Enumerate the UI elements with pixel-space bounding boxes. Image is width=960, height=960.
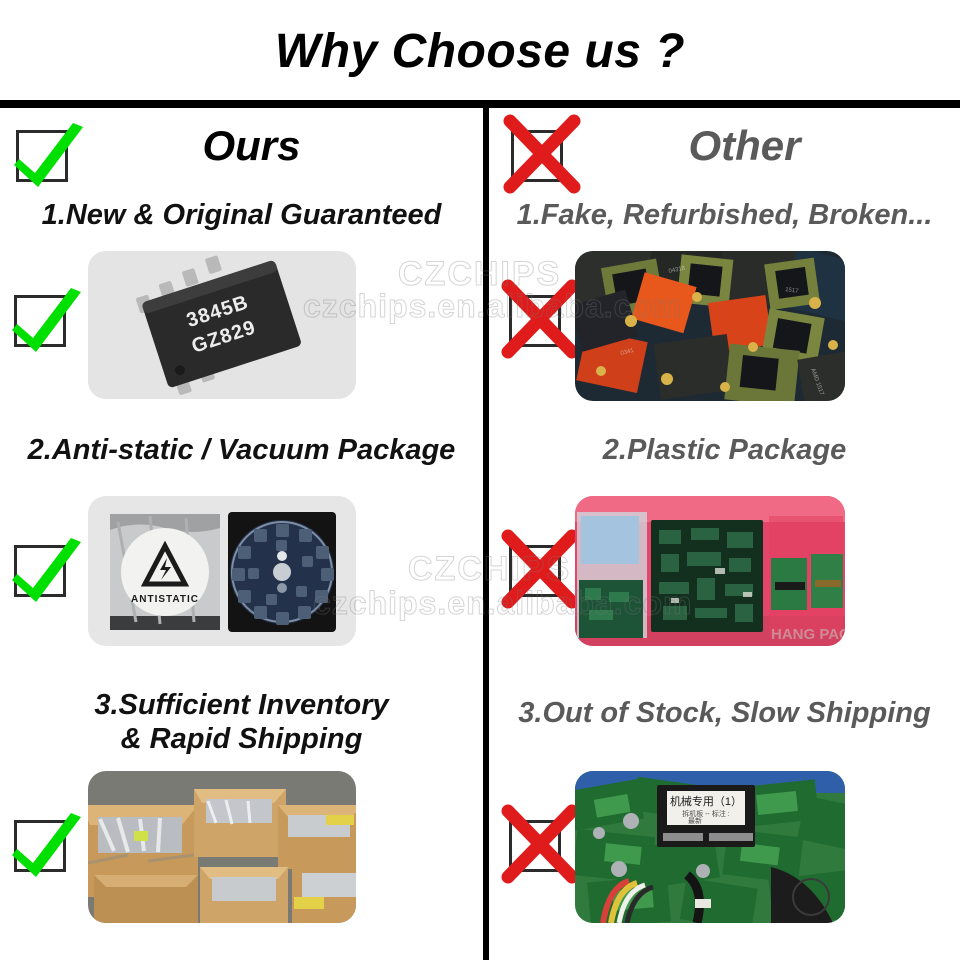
antistatic-vacuum-package-photo: ANTISTATIC	[88, 496, 356, 646]
other-item-1-text: 1.Fake, Refurbished, Broken...	[489, 198, 960, 232]
ours-heading-row: Ours	[0, 116, 483, 186]
red-cross-icon	[509, 295, 561, 347]
page-title: Why Choose us ?	[0, 24, 960, 79]
sop8-chip-photo: 3845B GZ829	[88, 251, 356, 399]
green-check-icon	[14, 820, 66, 872]
red-cross-icon	[509, 545, 561, 597]
svg-text:最新: 最新	[688, 816, 702, 825]
green-check-icon	[14, 545, 66, 597]
column-other: Other 1.Fake, Refurbished, Broken...	[489, 108, 960, 960]
other-heading-label: Other	[489, 122, 960, 170]
other-item-2-text: 2.Plastic Package	[489, 433, 960, 467]
other-heading-row: Other	[489, 116, 960, 186]
inventory-boxes-photo	[88, 771, 356, 923]
red-cross-icon	[509, 820, 561, 872]
ours-item-3-text: 3.Sufficient Inventory & Rapid Shipping	[0, 688, 483, 756]
svg-text:HANG PACK: HANG PACK	[771, 626, 845, 643]
plastic-bag-boards-photo: HANG PACK	[575, 496, 845, 646]
column-ours: Ours 1.New & Original Guaranteed	[0, 108, 483, 960]
svg-text:拆机板 -- 标注 :: 拆机板 -- 标注 :	[682, 809, 729, 818]
other-item-3-text: 3.Out of Stock, Slow Shipping	[489, 696, 960, 730]
green-check-icon	[14, 295, 66, 347]
ours-heading-label: Ours	[0, 122, 493, 170]
scrap-chips-photo: 04318 1517 0341 AMD 1517	[575, 251, 845, 401]
svg-text:ANTISTATIC: ANTISTATIC	[131, 594, 199, 605]
ours-item-1-text: 1.New & Original Guaranteed	[0, 198, 483, 232]
why-choose-us-infographic: Why Choose us ? Ours 1.New & Original Gu…	[0, 0, 960, 960]
svg-text:机械专用（1）: 机械专用（1）	[670, 794, 742, 808]
horizontal-divider	[0, 100, 960, 108]
scrap-green-boards-photo: 机械专用（1） 拆机板 -- 标注 : 最新	[575, 771, 845, 923]
ours-item-2-text: 2.Anti-static / Vacuum Package	[0, 433, 483, 467]
